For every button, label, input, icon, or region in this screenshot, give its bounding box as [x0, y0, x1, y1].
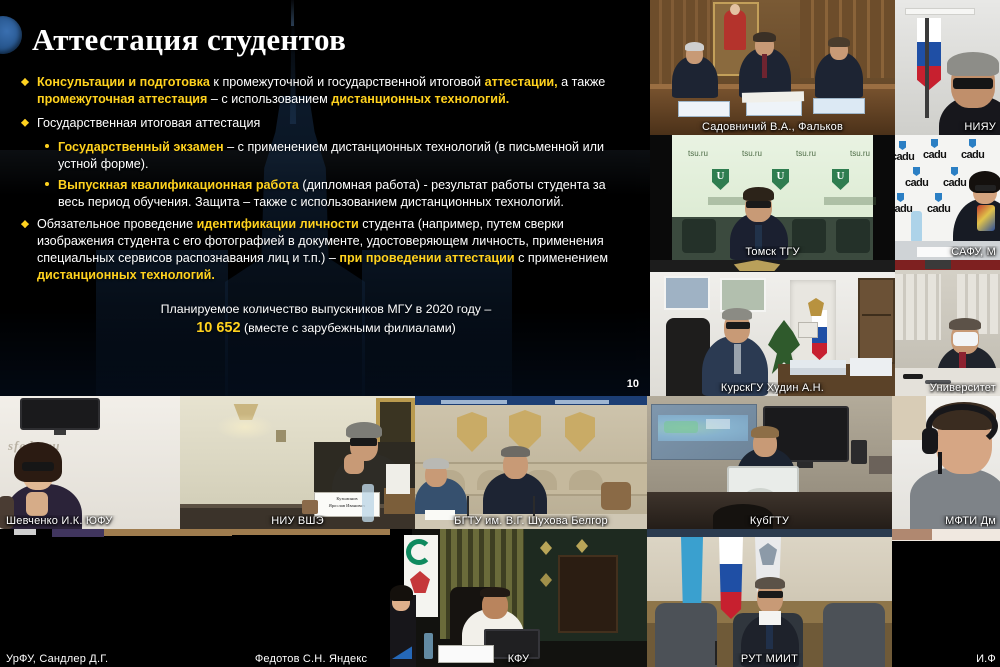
shared-slide[interactable]: Аттестация студентов Консультации и подг…	[0, 0, 650, 396]
kfu-logo-icon	[406, 539, 432, 565]
video-tile-kfu[interactable]: КФУ	[390, 529, 647, 667]
tile-label: И.Ф	[892, 653, 1000, 665]
video-frame	[647, 529, 892, 667]
tile-label: САФУ, М	[895, 246, 1000, 258]
backdrop-word: cadu	[905, 177, 928, 189]
body-text: с применением	[515, 251, 608, 265]
hand	[344, 454, 364, 474]
tile-label: Университет	[895, 382, 1000, 394]
body-text: Государственная итоговая аттестация	[37, 116, 260, 130]
tile-label: КубГТУ	[647, 515, 892, 527]
face-mask	[953, 332, 978, 346]
highlighted-text: промежуточная аттестация	[37, 92, 207, 106]
video-tile-rut-miit[interactable]: РУТ МИИТ	[647, 529, 892, 667]
wall-monitor	[20, 398, 100, 430]
video-frame-off	[232, 529, 390, 667]
backdrop-word: cadu	[961, 149, 984, 161]
tile-label: КурскГУ Худин А.Н.	[650, 382, 895, 394]
backdrop-word: cadu	[927, 203, 950, 215]
video-conference-grid: Аттестация студентов Консультации и подг…	[0, 0, 1000, 667]
body-text: – с использованием	[207, 92, 331, 106]
video-frame	[895, 0, 1000, 135]
backdrop-word: cadu	[895, 203, 912, 215]
body-text: к промежуточной и государственной итогов…	[210, 75, 485, 89]
backdrop-word: cadu	[943, 177, 966, 189]
video-frame: sfedu.ru	[0, 396, 180, 529]
tile-label: Шевченко И.К. ЮФУ	[0, 515, 180, 527]
video-tile-yandex[interactable]: Федотов С.Н. Яндекс	[232, 529, 390, 667]
tile-label: Федотов С.Н. Яндекс	[232, 653, 390, 665]
tile-label: Садовничий В.А., Фальков	[650, 121, 895, 133]
video-frame	[892, 396, 1000, 529]
footnote-line-1: Планируемое количество выпускников МГУ в…	[161, 302, 492, 316]
hand	[26, 492, 48, 516]
tile-label: НИЯУ	[895, 121, 1000, 133]
tile-label: РУТ МИИТ	[647, 653, 892, 665]
highlighted-text: аттестации,	[485, 75, 558, 89]
tile-label: МФТИ Дм	[892, 515, 1000, 527]
projection-screen	[651, 404, 757, 460]
video-tile-kurskgu[interactable]: КурскГУ Худин А.Н.	[650, 260, 895, 396]
video-frame-off	[0, 529, 232, 667]
video-tile-shevchenko[interactable]: sfedu.ru Шевченко И.К. ЮФУ	[0, 396, 180, 529]
eyeglasses-icon	[350, 438, 377, 446]
tsu-watermark: tsu.ru	[796, 149, 816, 158]
slide-page-number: 10	[627, 378, 639, 390]
video-tile-bgtu[interactable]: БГТУ им. В.Г. Шухова Белгор	[415, 396, 647, 529]
video-tile-sadovnichiy[interactable]: Садовничий В.А., Фальков	[650, 0, 895, 135]
slide-bullet: Государственный экзамен – с применением …	[42, 139, 634, 173]
video-frame: tsu.ru tsu.ru tsu.ru tsu.ru U U U	[650, 135, 895, 260]
video-frame	[415, 396, 647, 529]
backdrop-word: cadu	[923, 149, 946, 161]
footnote-tail: (вместе с зарубежными филиалами)	[241, 321, 456, 335]
slide-footnote: Планируемое количество выпускников МГУ в…	[18, 300, 634, 340]
body-text: Обязательное проведение	[37, 217, 197, 231]
tsu-shield-icon: U	[712, 169, 729, 190]
video-frame	[390, 529, 647, 667]
russian-flag	[719, 537, 743, 619]
highlighted-text: дистанционных технологий.	[37, 268, 215, 282]
tsu-watermark: tsu.ru	[850, 149, 870, 158]
body-text: а также	[558, 75, 606, 89]
video-tile-tomsk-tsu[interactable]: tsu.ru tsu.ru tsu.ru tsu.ru U U U Томск …	[650, 135, 895, 260]
video-tile-safu[interactable]: cadu cadu cadu cadu cadu cadu cadu	[895, 135, 1000, 260]
video-tile-niu-vshe[interactable]: Кузьминов Ярослав Иванович НИУ ВШЭ	[180, 396, 415, 529]
eyeglasses-icon	[758, 591, 783, 598]
video-frame: cadu cadu cadu cadu cadu cadu cadu	[895, 135, 1000, 260]
slide-bullet: Государственная итоговая аттестация	[20, 115, 634, 132]
eyeglasses-icon	[22, 462, 54, 471]
tsu-shield-icon: U	[832, 169, 849, 190]
highlighted-text: идентификации личности	[197, 217, 359, 231]
highlighted-text: при проведении аттестации	[339, 251, 514, 265]
video-tile-universitet[interactable]: Университет	[895, 260, 1000, 396]
tsu-watermark: tsu.ru	[688, 149, 708, 158]
slide-bullet: Консультации и подготовка к промежуточно…	[20, 74, 634, 108]
eyeglasses-icon	[953, 78, 993, 89]
tsu-shield-icon: U	[772, 169, 789, 190]
video-frame	[895, 260, 1000, 396]
video-frame-off	[892, 529, 1000, 667]
video-tile-urfu[interactable]: УрФУ, Сандлер Д.Г.	[0, 529, 232, 667]
tile-label: КФУ	[390, 653, 647, 665]
russian-flag	[917, 18, 941, 90]
video-tile-if[interactable]: И.Ф	[892, 529, 1000, 667]
scarf	[977, 205, 995, 231]
backdrop-word: cadu	[895, 151, 914, 163]
highlighted-text: Консультации и подготовка	[37, 75, 210, 89]
tile-label: НИУ ВШЭ	[180, 515, 415, 527]
highlighted-text: Выпускная квалификационная работа	[58, 178, 299, 192]
slide-title: Аттестация студентов	[32, 22, 634, 58]
tile-label: УрФУ, Сандлер Д.Г.	[0, 653, 232, 665]
video-tile-mfti[interactable]: МФТИ Дм	[892, 396, 1000, 529]
eyeglasses-icon	[726, 322, 750, 329]
slide-bullet: Обязательное проведение идентификации ли…	[20, 216, 634, 284]
tile-label: Томск ТГУ	[650, 246, 895, 258]
eyeglasses-icon	[746, 201, 771, 208]
eyeglasses-icon	[975, 185, 996, 191]
slide-bullet: Выпускная квалификационная работа (дипло…	[42, 177, 634, 211]
slide-bullet-list: Консультации и подготовка к промежуточно…	[20, 74, 634, 284]
video-frame	[650, 260, 895, 396]
video-frame	[650, 0, 895, 135]
highlighted-text: Государственный экзамен	[58, 140, 224, 154]
video-tile-niyau[interactable]: НИЯУ	[895, 0, 1000, 135]
video-tile-kubgtu[interactable]: КубГТУ	[647, 396, 892, 529]
tsu-watermark: tsu.ru	[742, 149, 762, 158]
video-frame: Кузьминов Ярослав Иванович	[180, 396, 415, 529]
graduate-count: 10 652	[196, 320, 240, 336]
highlighted-text: дистанционных технологий.	[331, 92, 509, 106]
tile-label: БГТУ им. В.Г. Шухова Белгор	[415, 515, 647, 527]
video-frame	[647, 396, 892, 529]
phone-icon	[903, 374, 923, 379]
